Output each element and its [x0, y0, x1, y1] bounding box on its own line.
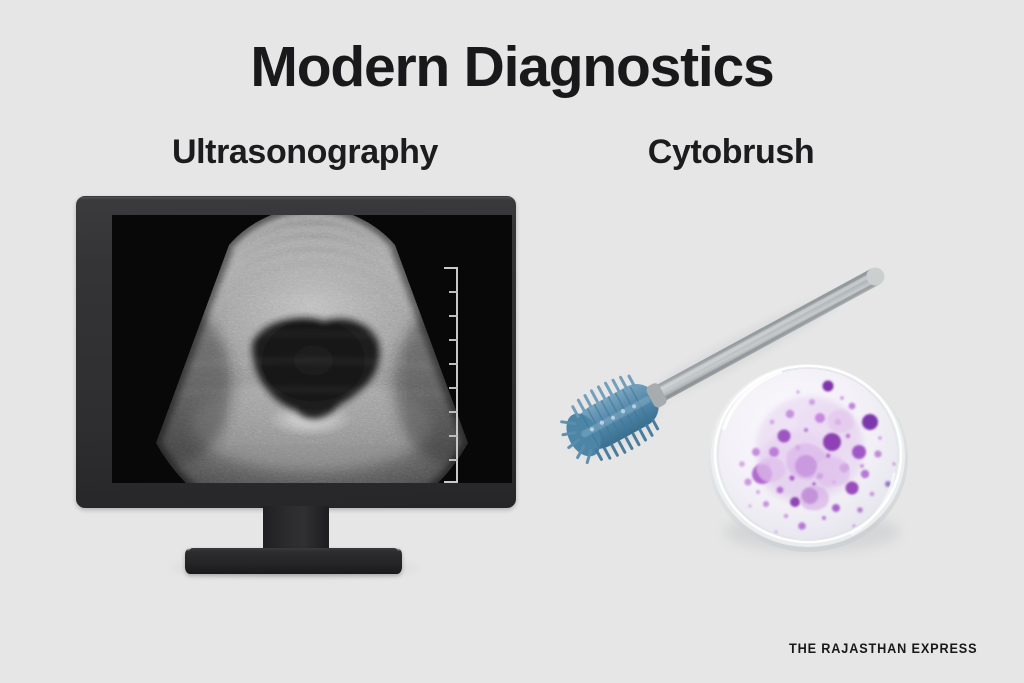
ruler-tick	[449, 459, 458, 461]
ruler-tick	[449, 315, 458, 317]
page-title: Modern Diagnostics	[0, 39, 1024, 96]
cytobrush-brush-head	[550, 361, 679, 475]
petri-dish-illustration	[702, 356, 918, 560]
ruler-cap-bottom	[444, 481, 458, 483]
monitor-screen	[112, 215, 512, 483]
section-label-cytobrush: Cytobrush	[581, 135, 881, 169]
ruler-tick	[449, 363, 458, 365]
ruler-tick	[449, 339, 458, 341]
ruler-tick	[449, 291, 458, 293]
ruler-cap-top	[444, 267, 458, 269]
monitor-bezel	[76, 196, 516, 508]
monitor-stand-base	[185, 548, 402, 574]
ultrasound-monitor	[60, 196, 522, 578]
anechoic-finding	[242, 307, 392, 432]
section-label-ultrasonography: Ultrasonography	[105, 135, 505, 169]
poster-canvas: Modern Diagnostics Ultrasonography Cytob…	[0, 0, 1024, 683]
petri-dish-specimen	[702, 356, 918, 560]
ruler-tick	[449, 387, 458, 389]
ruler-spine	[456, 267, 458, 483]
ruler-tick	[449, 411, 458, 413]
watermark-brand: THE RAJASTHAN EXPRESS	[789, 641, 977, 656]
monitor-stand-neck	[263, 506, 329, 554]
depth-scale-ruler	[436, 267, 458, 483]
ruler-tick	[449, 435, 458, 437]
